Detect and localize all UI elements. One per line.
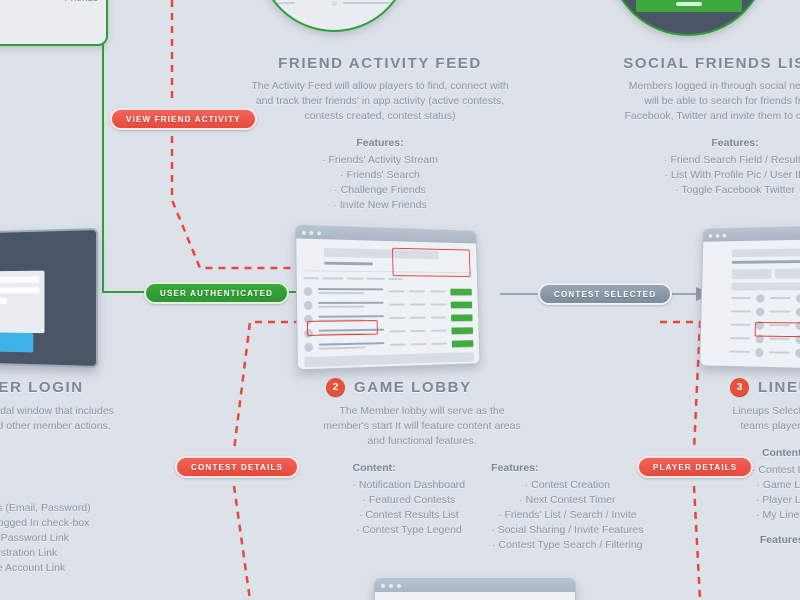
list-item: Create Account Link (0, 561, 91, 576)
block-user-login: 1 USER LOGIN Login will be a modal windo… (0, 378, 150, 576)
block-game-lobby: 2 GAME LOBBY The Member lobby will serve… (318, 378, 678, 553)
block-title-text: LINEUPS (758, 379, 800, 396)
lineups-mockup (688, 224, 800, 370)
column-heading: Content: (752, 446, 800, 461)
block-title-text: USER LOGIN (0, 379, 84, 396)
block-title: 2 GAME LOBBY (318, 378, 678, 397)
list-item: Contest Creation (491, 478, 643, 493)
list-item: Friends' Activity Stream (322, 153, 438, 168)
bottom-mockup (374, 578, 576, 600)
pill-contest-details[interactable]: CONTEST DETAILS (175, 456, 299, 478)
list-item: Featured Contests (353, 493, 466, 508)
list-item: Forgot Password Link (0, 531, 91, 546)
list-item: List With Profile Pic / User ID (664, 168, 800, 183)
block-description: The Member lobby will serve as the membe… (322, 404, 522, 449)
column-heading: Features: (322, 136, 438, 151)
block-description: Lineups Selection allows players to pick… (730, 404, 800, 434)
greencard-line-3: Friends (0, 0, 98, 6)
block-title: FRIEND ACTIVITY FEED (250, 55, 510, 72)
list-item: Friends' List / Search / Invite (491, 508, 643, 523)
highlight-box-contest-row (307, 320, 378, 336)
feature-column: Features: Contest Creation Next Contest … (491, 461, 643, 553)
list-item: Keep Me Logged In check-box (0, 516, 91, 531)
highlight-box-player-row (755, 322, 800, 337)
block-title-text: GAME LOBBY (354, 379, 472, 396)
list-item: Contest Info (752, 463, 800, 478)
list-item: Login Fields (Email, Password) (0, 501, 91, 516)
list-item: Game List (752, 478, 800, 493)
pill-view-friend-activity[interactable]: VIEW FRIEND ACTIVITY (110, 108, 257, 130)
step-number-badge: 3 (730, 378, 749, 397)
mockup-titlebar (375, 579, 575, 592)
list-item: Social Sharing / Invite Features (491, 523, 643, 538)
column-heading: Content: (353, 461, 466, 476)
list-item: Notification Dashboard (353, 478, 466, 493)
column-heading-features: Features: (752, 533, 800, 548)
list-item: Friend Search Field / Results (664, 153, 800, 168)
list-item: My Lineup (752, 508, 800, 523)
block-description: Login will be a modal window that includ… (0, 404, 115, 434)
block-description: The Activity Feed will allow players to … (250, 79, 510, 124)
list-item: Toggle Facebook Twitter (664, 183, 800, 198)
column-heading: Features: (664, 136, 800, 151)
pill-player-details[interactable]: PLAYER DETAILS (637, 456, 753, 478)
block-description: Members logged in through social network… (620, 79, 800, 124)
feature-column: Features: Friend Search Field / Results … (664, 136, 800, 198)
block-title: 3 LINEUPS (730, 378, 800, 397)
list-item: Next Contest Timer (491, 493, 643, 508)
list-item: Contest Type Search / Filtering (491, 538, 643, 553)
content-column: Content: Contest Info Game List Player L… (752, 446, 800, 550)
list-item: Friends' Search (322, 168, 438, 183)
feature-column: Features: Login Fields (Email, Password)… (0, 484, 91, 576)
block-title: 1 USER LOGIN (0, 378, 150, 397)
login-modal-mockup (0, 228, 98, 368)
pill-user-authenticated[interactable]: USER AUTHENTICATED (144, 282, 289, 304)
flow-diagram-canvas: s' List s' Search Friends (0, 0, 800, 600)
list-item: Contest Type Legend (353, 523, 466, 538)
game-lobby-mockup (296, 224, 502, 370)
step-number-badge: 2 (326, 378, 345, 397)
list-item: Registration Link (0, 546, 91, 561)
list-item: Player List (752, 493, 800, 508)
block-title: SOCIAL FRIENDS LIST (560, 55, 800, 72)
content-column: Content: Notification Dashboard Featured… (353, 461, 466, 553)
list-item: Challenge Friends (322, 183, 438, 198)
list-item: Contest Results List (353, 508, 466, 523)
column-heading: Features: (491, 461, 643, 476)
pill-contest-selected[interactable]: CONTEST SELECTED (538, 283, 672, 305)
feature-column: Features: Friends' Activity Stream Frien… (322, 136, 438, 213)
highlight-box-notifications (392, 248, 470, 277)
block-friend-activity-feed: FRIEND ACTIVITY FEED The Activity Feed w… (250, 55, 510, 213)
list-item: Invite New Friends (322, 198, 438, 213)
friends-list-card: s' List s' Search Friends (0, 0, 108, 46)
block-social-friends-list: SOCIAL FRIENDS LIST Members logged in th… (620, 55, 800, 198)
